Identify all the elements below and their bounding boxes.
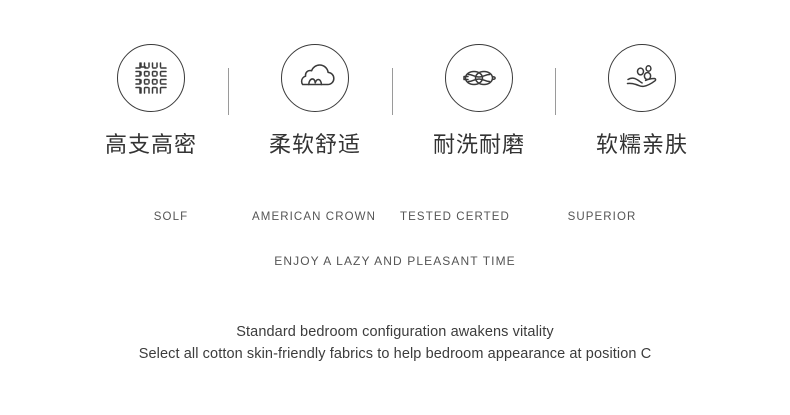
- feature-icon-circle: [281, 44, 349, 112]
- feature-icon-circle: [608, 44, 676, 112]
- feature-caption: SOLF: [154, 209, 188, 225]
- feature-item-high-count-density: 高支高密: [81, 44, 221, 156]
- feature-caption: TESTED CERTED: [400, 209, 510, 225]
- feature-label: 耐洗耐磨: [409, 134, 549, 156]
- feature-caption-row: SOLF AMERICAN CROWN TESTED CERTED SUPERI…: [0, 209, 790, 229]
- feature-icon-circle: [117, 44, 185, 112]
- feature-item-soft-skin-friendly: 软糯亲肤: [572, 44, 712, 156]
- hand-with-bubbles-icon: [621, 57, 663, 99]
- tagline: ENJOY A LAZY AND PLEASANT TIME: [0, 253, 790, 269]
- feature-row: 高支高密 柔软舒适: [0, 0, 790, 180]
- cloud-icon: [294, 57, 336, 99]
- bottom-description-line-1: Standard bedroom configuration awakens v…: [0, 321, 790, 343]
- feature-item-wash-wear-resistant: 耐洗耐磨: [409, 44, 549, 156]
- woven-fabric-icon: [131, 58, 171, 98]
- feature-divider: [228, 68, 229, 115]
- feature-caption: SUPERIOR: [568, 209, 637, 225]
- feature-divider: [555, 68, 556, 115]
- bottom-description-line-2: Select all cotton skin-friendly fabrics …: [0, 343, 790, 365]
- bottom-description: Standard bedroom configuration awakens v…: [0, 321, 790, 365]
- feature-caption: AMERICAN CROWN: [252, 209, 376, 225]
- rope-knot-icon: [458, 57, 500, 99]
- feature-label: 软糯亲肤: [572, 134, 712, 156]
- feature-label: 柔软舒适: [245, 134, 385, 156]
- feature-divider: [392, 68, 393, 115]
- feature-label: 高支高密: [81, 134, 221, 156]
- feature-icon-circle: [445, 44, 513, 112]
- feature-item-soft-comfortable: 柔软舒适: [245, 44, 385, 156]
